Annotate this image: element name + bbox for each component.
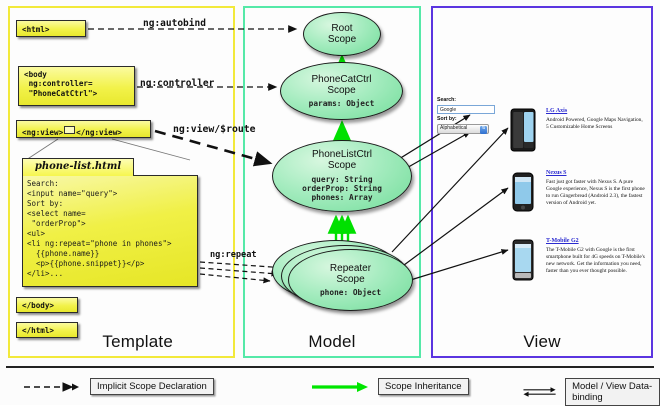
ng-view-close-tag: </ng:view> — [76, 128, 122, 137]
phone-name-link[interactable]: T-Mobile G2 — [546, 238, 646, 244]
sort-select[interactable]: Alphabetical ⇅ — [437, 124, 489, 134]
scope-root-title: RootScope — [328, 23, 356, 45]
partial-filename-label: phone-list.html — [22, 158, 134, 176]
scope-root: RootScope — [303, 12, 381, 56]
sort-select-value: Alphabetical — [440, 124, 467, 133]
legend-item-scope-inheritance: Scope Inheritance — [310, 378, 469, 395]
phone-thumbnail-icon — [510, 108, 536, 152]
phone-snippet: Android Powered, Google Maps Navigation,… — [546, 117, 646, 131]
label-ng-view-route: ng:view/$route — [173, 124, 256, 135]
sort-label: Sort by: — [437, 116, 500, 124]
label-ng-controller: ng:controller — [140, 78, 214, 89]
phone-thumbnail-icon — [510, 170, 536, 214]
code-box-body-close: </body> — [16, 297, 78, 313]
scope-phonelistctrl: PhoneListCtrlScope query: String orderPr… — [272, 140, 412, 212]
legend: Implicit Scope Declaration Scope Inherit… — [0, 366, 660, 405]
scope-phonecatctrl-props: params: Object — [309, 99, 375, 108]
legend-label-implicit-scope-declaration: Implicit Scope Declaration — [90, 378, 214, 395]
legend-item-model-view-data-binding: Model / View Data-binding — [522, 378, 660, 406]
green-arrow-icon — [310, 380, 370, 394]
panel-model-label: Model — [245, 332, 419, 352]
panel-template-label: Template — [102, 332, 233, 352]
phone-snippet: The T-Mobile G2 with Google is the first… — [546, 247, 646, 276]
list-item[interactable]: LG Axis Android Powered, Google Maps Nav… — [510, 108, 646, 152]
scope-phonelistctrl-props: query: String orderProp: String phones: … — [302, 175, 382, 203]
list-item[interactable]: T-Mobile G2 The T-Mobile G2 with Google … — [510, 238, 646, 282]
partial-template-callout: phone-list.html Search: <input name="que… — [22, 158, 198, 288]
scope-phonelistctrl-title: PhoneListCtrlScope — [312, 149, 372, 171]
phone-name-link[interactable]: LG Axis — [546, 108, 646, 114]
legend-item-implicit-scope-declaration: Implicit Scope Declaration — [22, 378, 214, 395]
diagram-canvas: Template Model View — [0, 0, 660, 405]
label-ng-autobind: ng:autobind — [143, 18, 206, 29]
code-box-html-open: <html> — [16, 20, 86, 37]
search-input[interactable]: Google — [437, 105, 495, 114]
scope-repeater: RepeaterScope phone: Object — [288, 249, 413, 311]
panel-view-label: View — [433, 332, 651, 352]
legend-divider — [6, 366, 654, 368]
search-label: Search: — [437, 97, 500, 105]
dashed-arrow-icon — [22, 380, 82, 394]
list-item-text: LG Axis Android Powered, Google Maps Nav… — [546, 108, 646, 152]
list-item[interactable]: Nexus S Fast just got faster with Nexus … — [510, 170, 646, 214]
phone-thumbnail-icon — [510, 238, 536, 282]
scope-phonecatctrl-title: PhoneCatCtrlScope — [311, 74, 371, 96]
partial-code-block: Search: <input name="query"> Sort by: <s… — [22, 175, 198, 287]
chevron-updown-icon: ⇅ — [480, 126, 487, 134]
scope-phonecatctrl: PhoneCatCtrlScope params: Object — [280, 62, 403, 120]
ng-view-placeholder-icon — [64, 126, 75, 134]
view-search-form: Search: Google Sort by: Alphabetical ⇅ — [437, 97, 500, 134]
ng-view-open-tag: <ng:view> — [22, 128, 63, 137]
phone-name-link[interactable]: Nexus S — [546, 170, 646, 176]
code-box-body-open: <body ng:controller= "PhoneCatCtrl"> — [18, 66, 135, 106]
scope-repeater-props: phone: Object — [320, 288, 381, 297]
label-ng-repeat: ng:repeat — [210, 250, 257, 260]
list-item-text: Nexus S Fast just got faster with Nexus … — [546, 170, 646, 214]
legend-label-model-view-data-binding: Model / View Data-binding — [565, 378, 660, 406]
list-item-text: T-Mobile G2 The T-Mobile G2 with Google … — [546, 238, 646, 282]
scope-repeater-title: RepeaterScope — [330, 263, 371, 285]
legend-label-scope-inheritance: Scope Inheritance — [378, 378, 469, 395]
code-box-ng-view: <ng:view></ng:view> — [16, 120, 151, 138]
phone-snippet: Fast just got faster with Nexus S. A pur… — [546, 179, 646, 208]
code-box-html-close: </html> — [16, 322, 78, 338]
double-arrow-icon — [522, 385, 557, 399]
